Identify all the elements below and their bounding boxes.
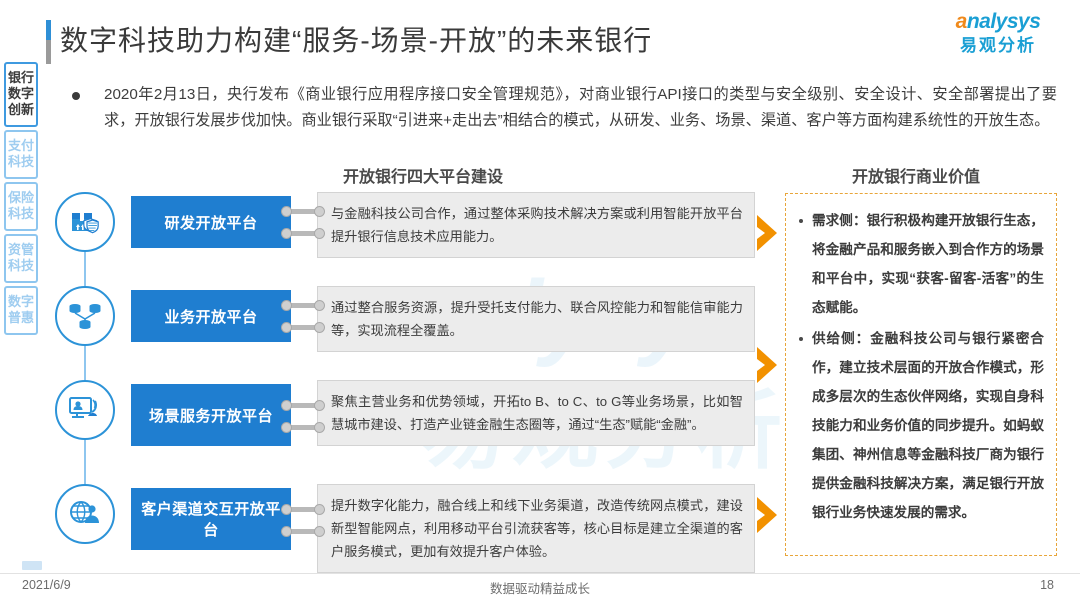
connector-group: [281, 206, 325, 250]
sidebar-item-payment-tech[interactable]: 支付科技: [4, 130, 38, 179]
logo-a-mark: a: [956, 10, 967, 33]
slide-root: 数字科技助力构建“服务-场景-开放”的未来银行 analysys 易观分析 银行…: [0, 0, 1080, 608]
connector-group: [281, 400, 325, 444]
footer-page-number: 18: [1040, 578, 1054, 592]
value-panel-item: 需求侧：银行积极构建开放银行生态，将金融产品和服务嵌入到合作方的场景和平台中，实…: [796, 206, 1044, 322]
package-shield-icon: [55, 192, 115, 252]
footer-chip: [22, 561, 42, 570]
lead-paragraph: 2020年2月13日，央行发布《商业银行应用程序接口安全管理规范》，对商业银行A…: [72, 82, 1057, 133]
sidebar-item-label: 资管科技: [6, 242, 36, 274]
connector-pill: [281, 322, 325, 333]
logo-cn-text: 易观分析: [934, 35, 1062, 57]
connector-pill: [281, 300, 325, 311]
lead-paragraph-text: 2020年2月13日，央行发布《商业银行应用程序接口安全管理规范》，对商业银行A…: [104, 82, 1057, 133]
footer: 2021/6/9 数据驱动精益成长 18: [0, 578, 1080, 600]
connector-group: [281, 300, 325, 344]
sidebar: 银行数字创新 支付科技 保险科技 资管科技 数字普惠: [4, 62, 40, 338]
screen-user-signal-icon-svg: [68, 394, 102, 426]
footer-center-text: 数据驱动精益成长: [0, 578, 1080, 597]
database-network-icon: [55, 286, 115, 346]
sidebar-item-label: 支付科技: [6, 138, 36, 170]
sidebar-item-label: 数字普惠: [6, 294, 36, 326]
sidebar-item-label: 保险科技: [6, 190, 36, 222]
sidebar-item-digital-inclusive-finance[interactable]: 数字普惠: [4, 286, 38, 335]
connector-pill: [281, 206, 325, 217]
platform-description: 通过整合服务资源，提升受托支付能力、联合风控能力和智能信审能力等，实现流程全覆盖…: [317, 286, 755, 352]
connector-pill: [281, 526, 325, 537]
value-panel: 需求侧：银行积极构建开放银行生态，将金融产品和服务嵌入到合作方的场景和平台中，实…: [785, 193, 1057, 556]
logo-en-rest: nalysys: [967, 10, 1041, 33]
package-shield-icon-svg: [68, 205, 102, 239]
globe-user-icon-svg: [68, 498, 102, 530]
globe-user-icon: [55, 484, 115, 544]
platform-label[interactable]: 业务开放平台: [131, 290, 291, 342]
chevron-right-icon: [755, 213, 785, 253]
logo-en-text: analysys: [934, 10, 1062, 34]
platform-description: 与金融科技公司合作，通过整体采购技术解决方案或利用智能开放平台提升银行信息技术应…: [317, 192, 755, 258]
platform-description: 聚焦主营业务和优势领域，开拓to B、to C、to G等业务场景，比如智慧城市…: [317, 380, 755, 446]
left-column-heading: 开放银行四大平台建设: [343, 163, 503, 187]
platform-label[interactable]: 场景服务开放平台: [131, 384, 291, 446]
analysys-logo: analysys 易观分析: [934, 10, 1062, 66]
connector-pill: [281, 228, 325, 239]
connector-pill: [281, 504, 325, 515]
screen-user-signal-icon: [55, 380, 115, 440]
footer-divider: [0, 573, 1080, 574]
database-network-icon-svg: [68, 300, 102, 332]
connector-pill: [281, 400, 325, 411]
sidebar-item-asset-management-tech[interactable]: 资管科技: [4, 234, 38, 283]
platform-flow: 研发开放平台 与金融科技公司合作，通过整体采购技术解决方案或利用智能开放平台提升…: [55, 192, 755, 562]
flow-spine-line: [84, 220, 86, 520]
value-panel-item: 供给侧：金融科技公司与银行紧密合作，建立技术层面的开放合作模式，形成多层次的生态…: [796, 324, 1044, 527]
platform-label[interactable]: 客户渠道交互开放平台: [131, 488, 291, 550]
connector-pill: [281, 422, 325, 433]
bullet-dot-icon: [72, 92, 80, 100]
chevron-right-icon: [755, 345, 785, 385]
right-column-heading: 开放银行商业价值: [852, 163, 980, 187]
sidebar-item-bank-digital-innovation[interactable]: 银行数字创新: [4, 62, 38, 127]
page-title: 数字科技助力构建“服务-场景-开放”的未来银行: [60, 18, 652, 64]
connector-group: [281, 504, 325, 548]
sidebar-item-label: 银行数字创新: [6, 70, 36, 118]
title-accent-bar: [46, 20, 51, 64]
platform-label[interactable]: 研发开放平台: [131, 196, 291, 248]
sidebar-item-insurance-tech[interactable]: 保险科技: [4, 182, 38, 231]
platform-description: 提升数字化能力，融合线上和线下业务渠道，改造传统网点模式，建设新型智能网点，利用…: [317, 484, 755, 573]
chevron-right-icon: [755, 495, 785, 535]
